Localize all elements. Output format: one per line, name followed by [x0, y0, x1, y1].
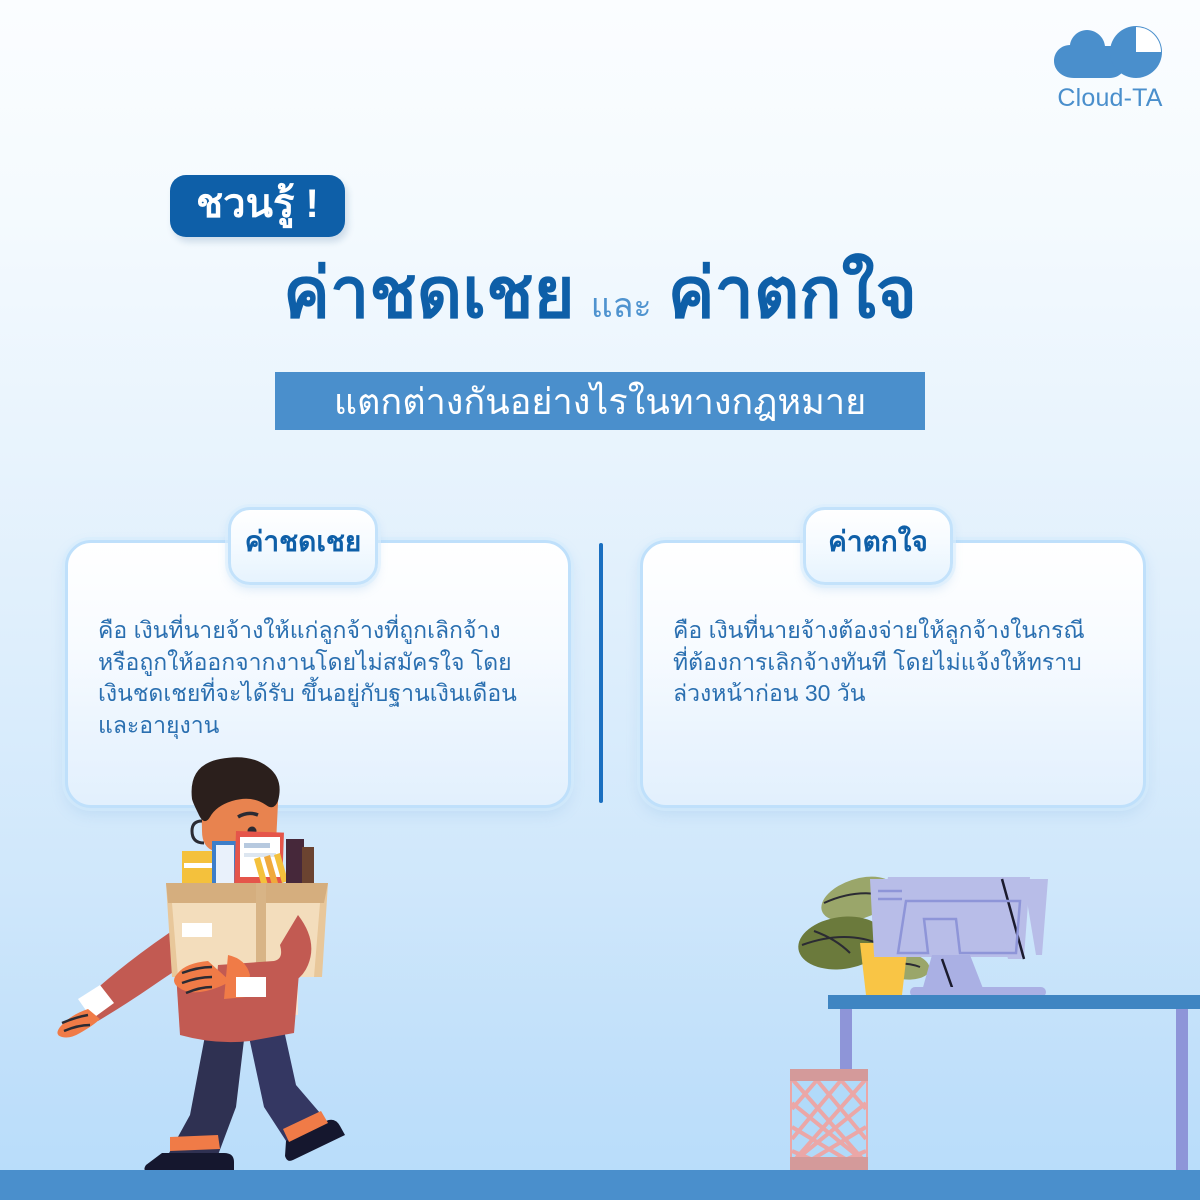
desk-monitor-plant-icon: [790, 855, 1200, 1175]
infographic-canvas: Cloud-TA ชวนรู้ ! ค่าชดเชยและค่าตกใจ แตก…: [0, 0, 1200, 1200]
page-title: ค่าชดเชยและค่าตกใจ: [0, 258, 1200, 328]
card-line: คือ เงินที่นายจ้างให้แก่ลูกจ้างที่ถูกเลิ…: [98, 615, 544, 647]
brand-logo: Cloud-TA: [1040, 22, 1180, 122]
card-line: เงินชดเชยที่จะได้รับ ขึ้นอยู่กับฐานเงินเ…: [98, 678, 544, 710]
card-line: หรือถูกให้ออกจากงานโดยไม่สมัครใจ โดย: [98, 647, 544, 679]
title-part-1: ค่าชดเชย: [283, 254, 575, 332]
floor-bar: [0, 1170, 1200, 1200]
title-part-2: ค่าตกใจ: [668, 254, 917, 332]
badge-label: ชวนรู้ !: [196, 182, 319, 226]
card-body-shock: คือ เงินที่นายจ้างต้องจ่ายให้ลูกจ้างในกร…: [673, 615, 1119, 710]
cloud-clock-icon: [1040, 22, 1180, 84]
card-line: คือ เงินที่นายจ้างต้องจ่ายให้ลูกจ้างในกร…: [673, 615, 1119, 647]
vertical-divider: [599, 543, 603, 803]
card-tab-label: ค่าชดเชย: [245, 520, 362, 564]
man-carrying-box-icon: [40, 755, 360, 1180]
card-tab-label: ค่าตกใจ: [828, 520, 928, 564]
card-shock-pay: ค่าตกใจ คือ เงินที่นายจ้างต้องจ่ายให้ลูก…: [640, 540, 1146, 808]
subtitle-band: แตกต่างกันอย่างไรในทางกฎหมาย: [275, 372, 925, 430]
attention-badge: ชวนรู้ !: [170, 175, 345, 237]
card-tab-severance: ค่าชดเชย: [228, 507, 378, 585]
subtitle-text: แตกต่างกันอย่างไรในทางกฎหมาย: [334, 373, 866, 430]
title-conjunction: และ: [575, 287, 668, 325]
card-line: ล่วงหน้าก่อน 30 วัน: [673, 678, 1119, 710]
card-line: ที่ต้องการเลิกจ้างทันที โดยไม่แจ้งให้ทรา…: [673, 647, 1119, 679]
card-body-severance: คือ เงินที่นายจ้างให้แก่ลูกจ้างที่ถูกเลิ…: [98, 615, 544, 742]
mesh-wastebasket-icon: [790, 1069, 868, 1173]
brand-name: Cloud-TA: [1040, 84, 1180, 113]
card-tab-shock: ค่าตกใจ: [803, 507, 953, 585]
card-line: และอายุงาน: [98, 710, 544, 742]
